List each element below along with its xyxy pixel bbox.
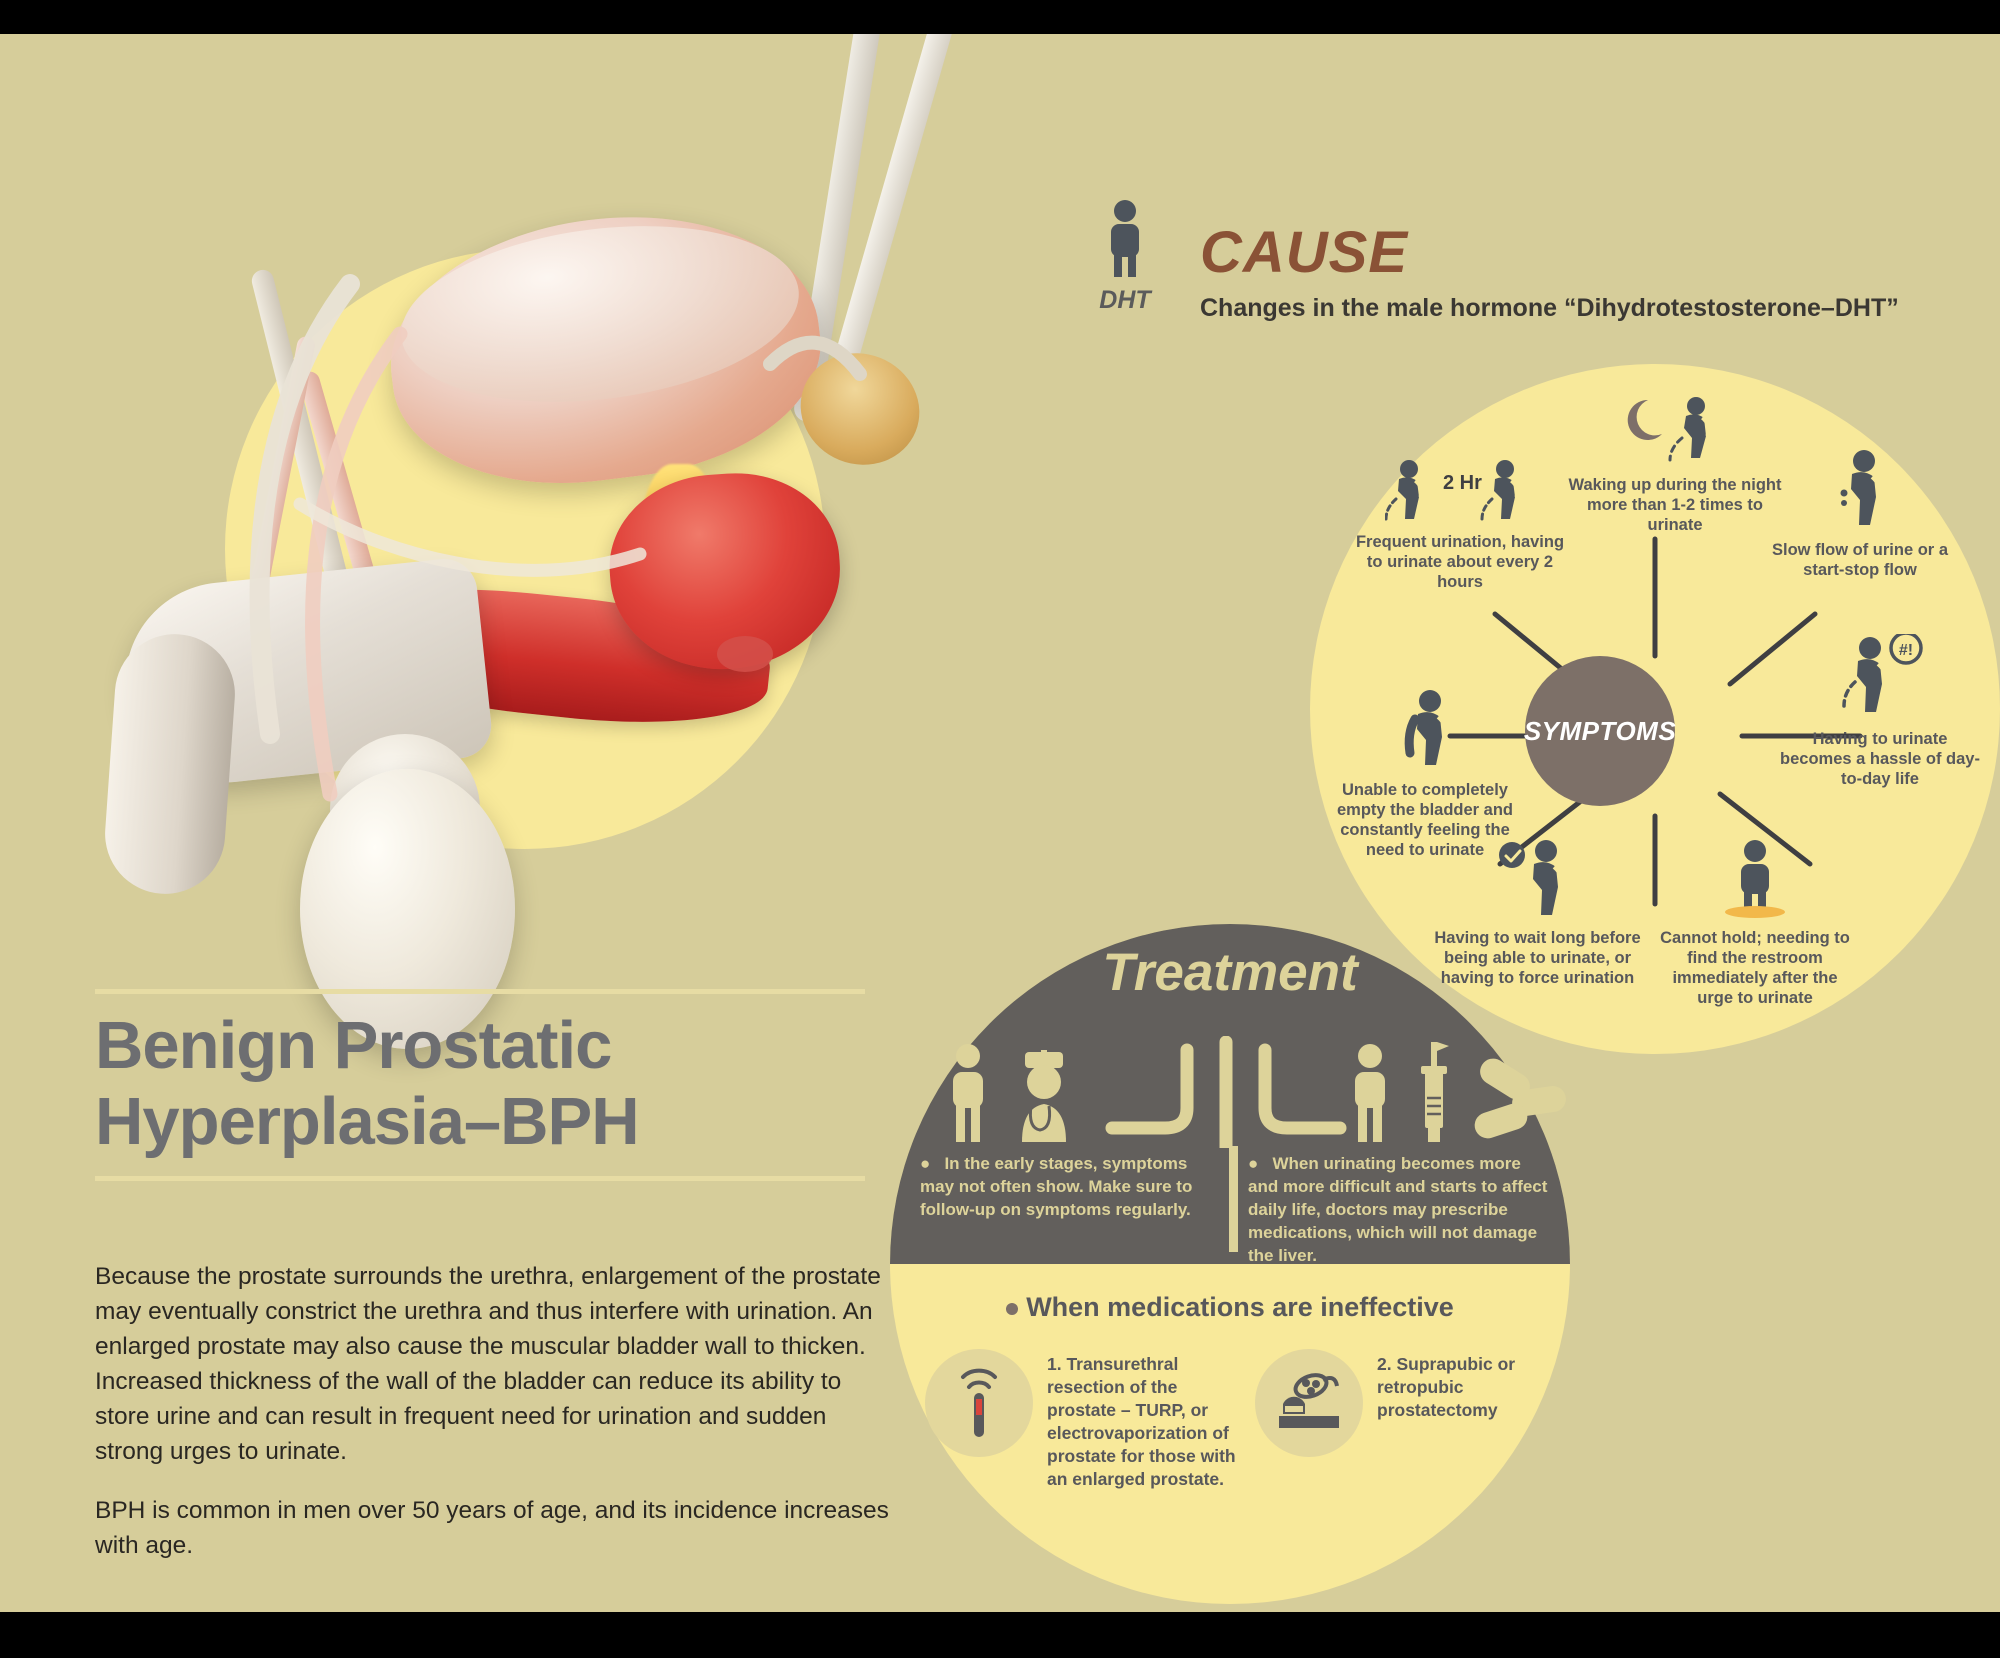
person-clock-wait-icon [1425,839,1650,924]
doctor-icon [1022,1050,1066,1142]
pills-icon [1471,1054,1567,1142]
person-hash-exclaim-icon: #! [1780,634,1980,725]
bullet-dot-icon [1006,1303,1018,1315]
treatment-column-2-text: When urinating becomes more and more dif… [1248,1154,1547,1265]
resectoscope-icon [949,1363,1009,1443]
treatment-ineffective-label: When medications are ineffective [1026,1292,1454,1322]
resectoscope-icon-wrap [925,1349,1033,1457]
surgery-table-lamp-icon-wrap [1255,1349,1363,1457]
treatment-option-1-text: 1. Transurethral resection of the prosta… [1047,1349,1245,1491]
treatment-option-2-text: 2. Suprapubic or retropubic prostatectom… [1377,1349,1525,1422]
symptom-slow-flow: Slow flow of urine or a start-stop flow [1760,449,1960,580]
moon-and-urinating-person-icon [1560,394,1790,471]
treatment-ineffective-heading: When medications are ineffective [890,1292,1570,1323]
cause-icon-label: DHT [1090,286,1160,315]
symptoms-hub: SYMPTOMS [1525,656,1675,806]
patient-icon [953,1044,983,1142]
treatment-option-2: 2. Suprapubic or retropubic prostatectom… [1255,1349,1525,1491]
cause-person-icon-wrap: DHT [1090,199,1160,315]
infographic-page: Benign Prostatic Hyperplasia–BPH Because… [0,0,2000,1658]
description-paragraph-1: Because the prostate surrounds the ureth… [95,1259,895,1469]
symptom-hassle-label: Having to urinate becomes a hassle of da… [1780,730,1980,788]
title-block: Benign Prostatic Hyperplasia–BPH [95,989,885,1181]
treatment-icon-row [890,1036,1570,1153]
anatomy-overlay-vessels [0,34,900,1084]
treatment-title: Treatment [890,942,1570,1003]
treatment-columns: ● In the early stages, symptoms may not … [890,1152,1570,1267]
urethra-diagram-icon [1112,1042,1340,1148]
person-icon [1101,199,1149,277]
symptom-night: Waking up during the night more than 1-2… [1560,394,1790,535]
svg-text:2 Hr: 2 Hr [1443,472,1482,494]
treatment-column-2: ● When urinating becomes more and more d… [1248,1152,1548,1267]
cause-title: CAUSE [1200,219,1408,286]
symptoms-hub-label: SYMPTOMS [1524,716,1676,747]
description-paragraph-2: BPH is common in men over 50 years of ag… [95,1493,895,1563]
symptom-cannot-hold-label: Cannot hold; needing to find the restroo… [1660,929,1850,1007]
title-rule-top [95,989,865,994]
cause-subtitle: Changes in the male hormone “Dihydrotest… [1200,294,1899,323]
treatment-column-1: ● In the early stages, symptoms may not … [920,1152,1220,1267]
description-text: Because the prostate surrounds the ureth… [95,1259,895,1587]
surgery-table-lamp-icon [1273,1372,1345,1434]
symptom-cannot-hold: Cannot hold; needing to find the restroo… [1655,839,1855,1008]
symptom-frequent: 2 Hr Frequent urination, having to urina… [1355,459,1565,592]
title-rule-bottom [95,1176,865,1181]
infographic-canvas: Benign Prostatic Hyperplasia–BPH Because… [0,34,2000,1612]
person-dripping-icon [1760,449,1960,536]
two-persons-2hr-icon: 2 Hr [1355,459,1565,528]
svg-text:#!: #! [1899,642,1913,659]
person-puddle-icon [1655,839,1855,924]
treatment-options: 1. Transurethral resection of the prosta… [890,1349,1570,1491]
symptom-night-label: Waking up during the night more than 1-2… [1569,476,1782,534]
treatment-column-1-text: In the early stages, symptoms may not of… [920,1154,1192,1219]
treatment-bullet-1: ● [920,1154,930,1173]
treatment-bullet-2: ● [1248,1154,1258,1173]
treatment-option-1: 1. Transurethral resection of the prosta… [925,1349,1245,1491]
syringe-icon [1421,1042,1449,1142]
symptom-incomplete: Unable to completely empty the bladder a… [1325,689,1525,860]
treatment-section: Treatment [890,924,1570,1604]
symptom-hassle: #! Having to urinate becomes a hassle of… [1780,634,1980,789]
symptom-frequent-label: Frequent urination, having to urinate ab… [1356,533,1564,591]
patient-icon [1355,1044,1385,1142]
person-leaning-icon [1325,689,1525,776]
symptom-slow-flow-label: Slow flow of urine or a start-stop flow [1772,541,1948,579]
page-title: Benign Prostatic Hyperplasia–BPH [95,1008,885,1160]
